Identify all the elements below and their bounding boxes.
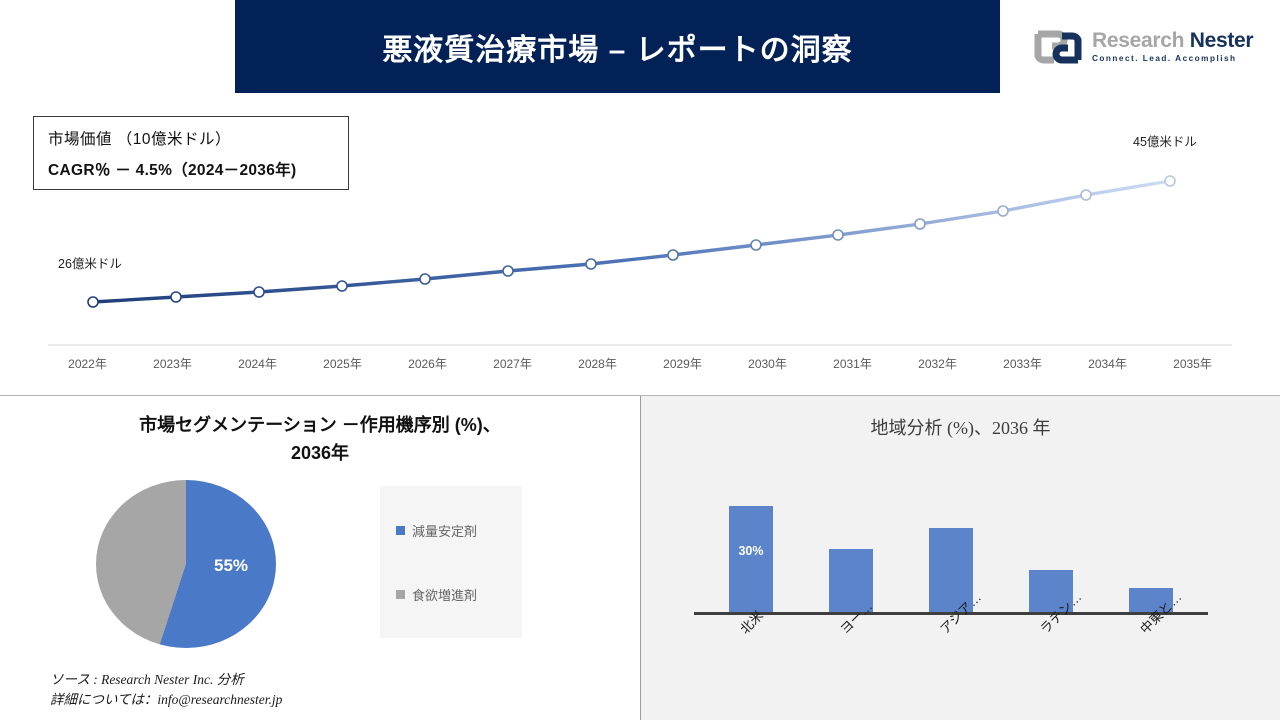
logo-text: Research Nester Connect. Lead. Accomplis… [1092, 30, 1253, 63]
logo-name-nester: Nester [1190, 29, 1254, 52]
source-line-1: ソース : Research Nester Inc. 分析 [50, 670, 282, 690]
segmentation-panel: 市場セグメンテーション －作用機序別 (%)、 2036年 55% 減量安定剤 … [0, 396, 640, 720]
logo-tagline: Connect. Lead. Accomplish [1092, 55, 1253, 63]
pie-chart-title: 市場セグメンテーション －作用機序別 (%)、 2036年 [60, 412, 580, 468]
x-tick-2027: 2027年 [470, 355, 555, 372]
bar-value-label-0: 30% [729, 544, 773, 558]
market-value-callout: 市場価値 （10億米ドル） CAGR％ － 4.5%（2024－2036年) [33, 116, 349, 190]
legend-item-1: 食欲増進剤 [396, 585, 522, 604]
pie-chart: 55% [96, 480, 276, 648]
legend-swatch-icon-1 [396, 590, 405, 599]
x-tick-2022: 2022年 [45, 355, 130, 372]
legend-label-0: 減量安定剤 [412, 521, 477, 540]
bar-x-label-wrap-4: 中東と… [1129, 618, 1173, 688]
x-tick-2028: 2028年 [555, 355, 640, 372]
legend-label-1: 食欲増進剤 [412, 585, 477, 604]
pie-legend: 減量安定剤 食欲増進剤 [380, 486, 522, 638]
x-tick-2026: 2026年 [385, 355, 470, 372]
infographic-page: 悪液質治療市場 – レポートの洞察 Research Nester Connec… [0, 0, 1280, 720]
pie-slices [96, 480, 276, 648]
bar-x-label-wrap-3: ラテン… [1029, 618, 1073, 688]
header-band: 悪液質治療市場 – レポートの洞察 [235, 0, 1000, 93]
callout-market-value-line: 市場価値 （10億米ドル） [48, 127, 334, 149]
x-tick-2024: 2024年 [215, 355, 300, 372]
source-line-2: 詳細については：info@researchnester.jp [50, 690, 282, 710]
bar-series: 30% [701, 466, 1201, 613]
x-tick-2030: 2030年 [725, 355, 810, 372]
line-chart-start-annotation: 26億米ドル [58, 253, 122, 272]
x-tick-2023: 2023年 [130, 355, 215, 372]
bar-0: 30% [729, 506, 773, 613]
legend-item-0: 減量安定剤 [396, 521, 522, 540]
x-tick-2032: 2032年 [895, 355, 980, 372]
pie-title-line2: 2036年 [291, 443, 349, 463]
regional-analysis-panel: 地域分析 (%)、2036 年 30% [641, 396, 1280, 720]
callout-cagr-line: CAGR％ － 4.5%（2024－2036年) [48, 158, 334, 180]
pie-slice-value-label: 55% [214, 556, 248, 576]
line-chart-end-annotation: 45億米ドル [1133, 131, 1197, 150]
x-tick-2034: 2034年 [1065, 355, 1150, 372]
bar-chart-x-axis: 北米 ヨー… アジア… ラテン… 中東と… [701, 618, 1201, 688]
logo-name-research: Research [1092, 29, 1184, 52]
pie-title-line1: 市場セグメンテーション －作用機序別 (%)、 [139, 415, 501, 435]
bar-x-label-wrap-1: ヨー… [829, 618, 873, 688]
x-tick-2029: 2029年 [640, 355, 725, 372]
source-note: ソース : Research Nester Inc. 分析 詳細については：in… [50, 670, 282, 711]
x-tick-2035: 2035年 [1150, 355, 1235, 372]
bar-x-label-wrap-2: アジア… [929, 618, 973, 688]
x-tick-2033: 2033年 [980, 355, 1065, 372]
x-tick-2031: 2031年 [810, 355, 895, 372]
legend-swatch-icon-0 [396, 526, 405, 535]
bar-chart-title: 地域分析 (%)、2036 年 [641, 414, 1280, 440]
logo-mark-icon [1032, 30, 1084, 64]
line-chart-x-axis: 2022年 2023年 2024年 2025年 2026年 2027年 2028… [45, 355, 1235, 372]
bar-x-label-wrap-0: 北米 [729, 618, 773, 688]
bar-chart: 30% [701, 466, 1201, 613]
brand-logo: Research Nester Connect. Lead. Accomplis… [1032, 22, 1258, 72]
logo-name: Research Nester [1092, 30, 1253, 51]
x-tick-2025: 2025年 [300, 355, 385, 372]
bar-column-0: 30% [729, 506, 773, 613]
page-title: 悪液質治療市場 – レポートの洞察 [382, 25, 852, 69]
